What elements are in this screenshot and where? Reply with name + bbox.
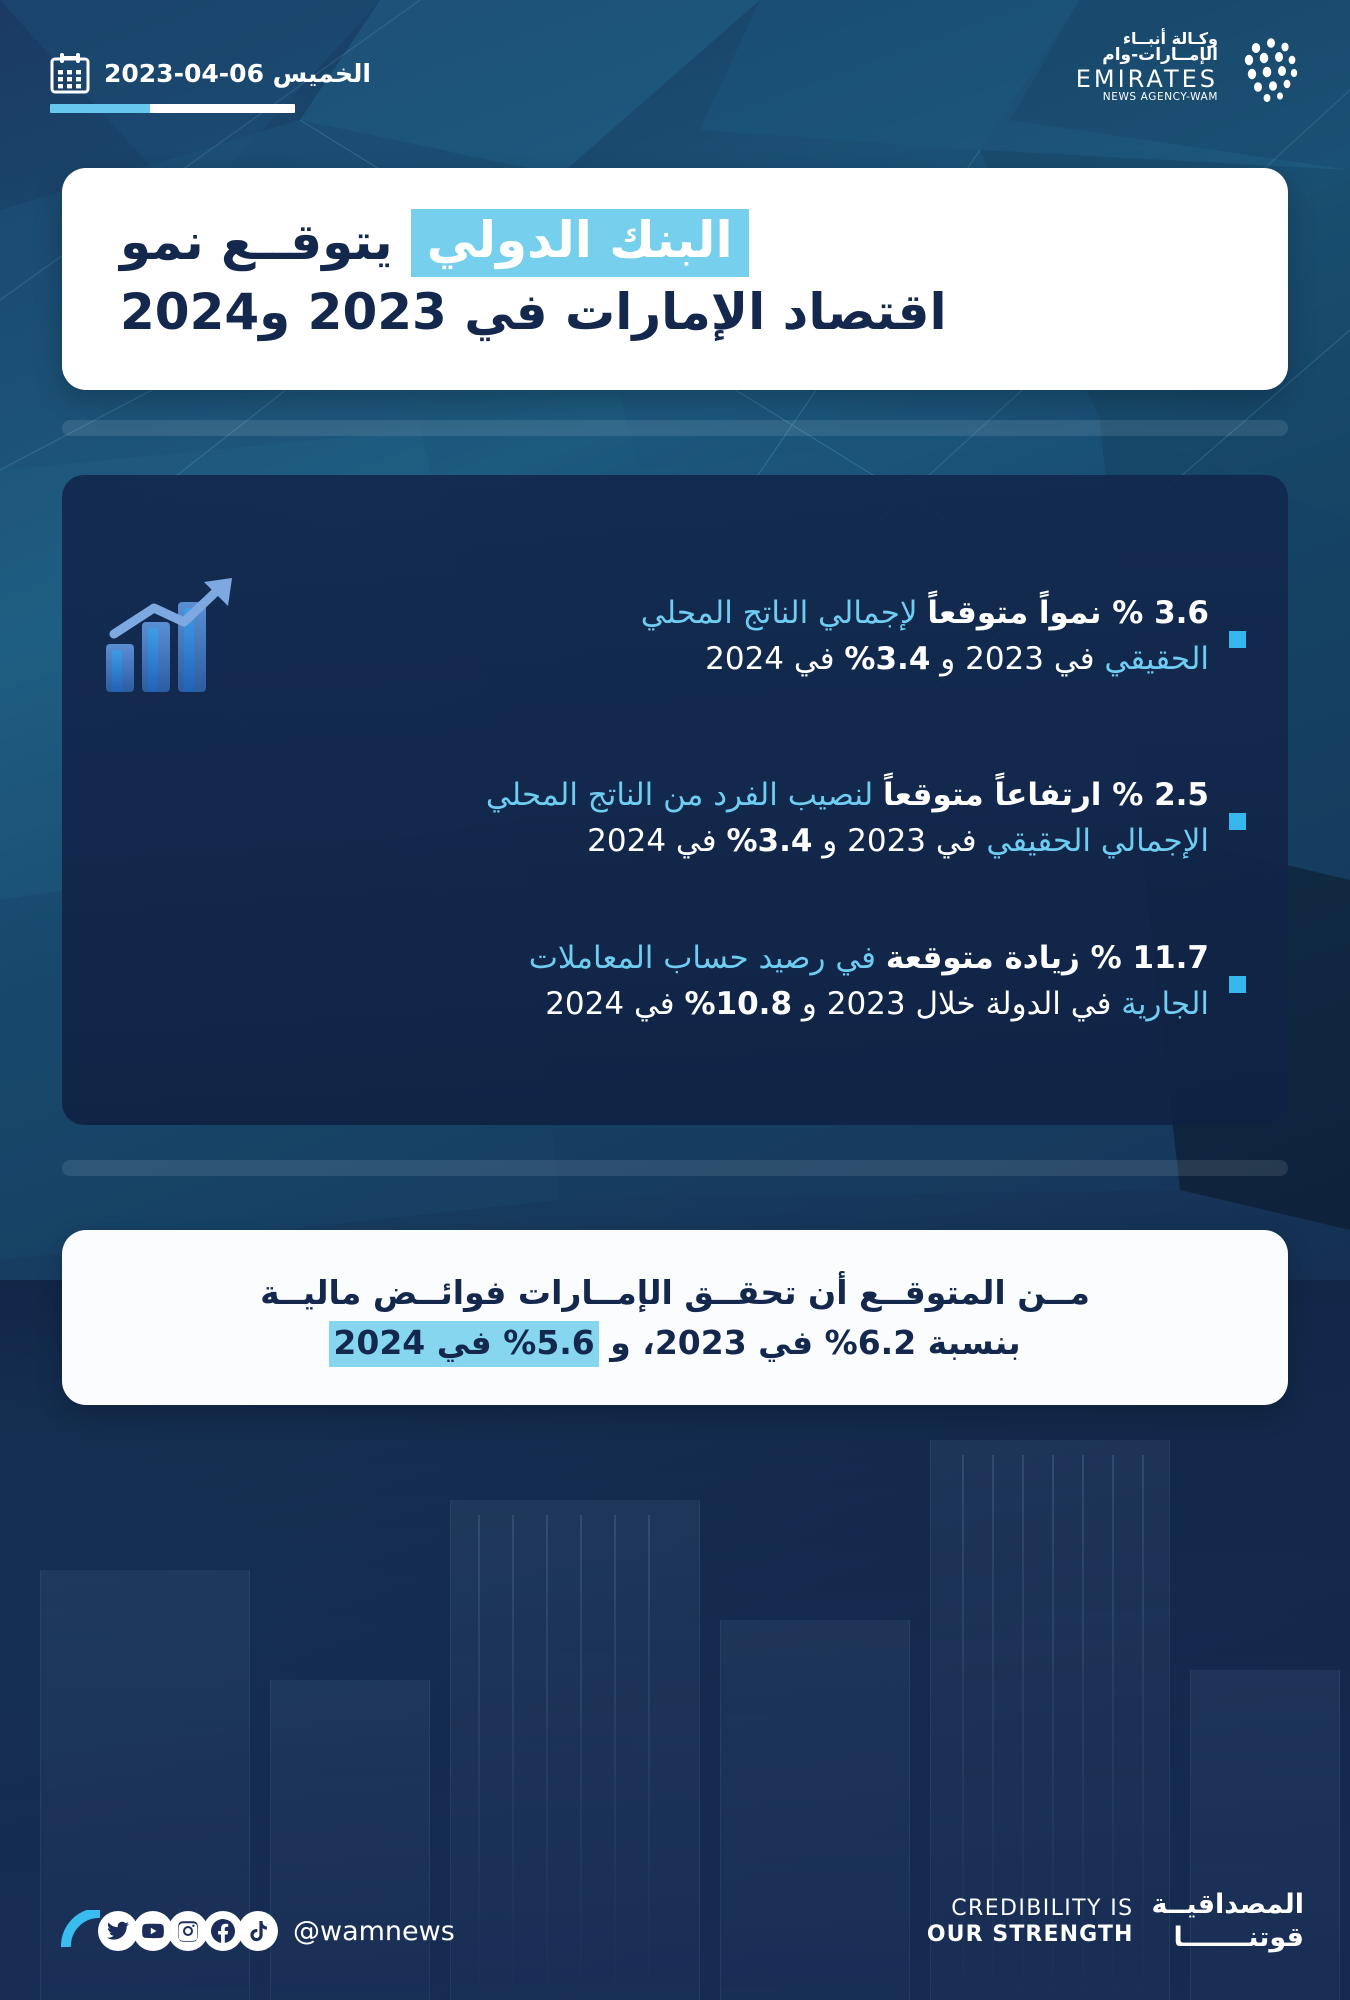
title-line-1-rest: يتوقــع نمو [120,213,393,272]
logo-english-line-1: EMIRATES [1076,67,1218,92]
conclusion-line-2: بنسبة 6.2% في 2023، و 5.6% في 2024 [329,1318,1020,1368]
conclusion-line-2-plain: بنسبة 6.2% في 2023، و [599,1323,1021,1362]
fact-3-line2-c: في 2024 [545,986,684,1022]
fact-1-value-1: 3.6 % [1112,595,1209,631]
tagline-en-line-1: CREDIBILITY IS [951,1896,1133,1922]
title-card: البنك الدولي يتوقــع نمو اقتصاد الإمارات… [62,168,1288,390]
fact-2-label-b: لنصيب الفرد من الناتج المحلي [486,777,883,813]
fact-2-body: 2.5 % ارتفاعاً متوقعاً لنصيب الفرد من ال… [92,773,1209,865]
date-underline [50,104,295,113]
fact-3-label-b: في رصيد حساب المعاملات [529,940,886,976]
twitter-icon[interactable] [98,1911,138,1951]
fact-3-value-1: 11.7 % [1091,940,1209,976]
title-line-1: البنك الدولي يتوقــع نمو [120,209,1230,277]
social-handle: @wamnews [293,1916,455,1947]
fact-3-body: 11.7 % زيادة متوقعة في رصيد حساب المعامل… [92,936,1209,1028]
wam-logo-wordmark: وكـالة أنبــاء الإمــارات-وام EMIRATES N… [1076,31,1218,104]
fact-1-line2-a: الحقيقي [1104,641,1209,677]
tagline-english: CREDIBILITY IS OUR STRENGTH [927,1896,1134,1948]
fact-2-value-2: 3.4% [726,823,812,859]
social-links: @wamnews [60,1910,455,1952]
fact-2-line2-b: في 2023 و [812,823,986,859]
fact-1-label-b: لإجمالي الناتج المحلي [641,595,928,631]
fact-3-value-2: 10.8% [684,986,792,1022]
tagline-ar-line-2: قوتنـــــــا [1173,1922,1304,1954]
tagline-en-line-2: OUR STRENGTH [927,1922,1134,1948]
bullet-square-icon [1229,976,1246,993]
wam-globe-icon [1230,26,1312,108]
fact-1-line-2: الحقيقي في 2023 و 3.4% في 2024 [262,637,1209,683]
fact-1-line2-b: في 2023 و [930,641,1104,677]
fact-1-line2-c: في 2024 [705,641,844,677]
logo-arabic-line-2: الإمــارات-وام [1102,47,1218,65]
tagline-arabic: المصداقيــة قوتنـــــــا [1152,1889,1304,1954]
fact-item-2: 2.5 % ارتفاعاً متوقعاً لنصيب الفرد من ال… [82,773,1268,865]
fact-item-1: 3.6 % نمواً متوقعاً لإجمالي الناتج المحل… [82,572,1268,702]
fact-1-body: 3.6 % نمواً متوقعاً لإجمالي الناتج المحل… [262,591,1209,683]
fact-2-line-2: الإجمالي الحقيقي في 2023 و 3.4% في 2024 [92,819,1209,865]
page-footer: @wamnews CREDIBILITY IS OUR STRENGTH الم… [0,1850,1350,2000]
fact-2-value-1: 2.5 % [1112,777,1209,813]
title-highlight: البنك الدولي [411,209,749,277]
fact-2-label-a: ارتفاعاً متوقعاً [883,777,1112,813]
fact-1-value-2: 3.4% [844,641,930,677]
bullet-square-icon [1229,631,1246,648]
title-line-2: اقتصاد الإمارات في 2023 و2024 [120,283,1230,342]
title-line-2-text: اقتصاد الإمارات في 2023 و2024 [120,283,947,342]
fact-2-line2-a: الإجمالي الحقيقي [986,823,1209,859]
wam-logo: وكـالة أنبــاء الإمــارات-وام EMIRATES N… [1076,26,1312,108]
fact-3-label-a: زيادة متوقعة [886,940,1091,976]
conclusion-line-2-highlight: 5.6% في 2024 [329,1321,598,1367]
date-block: الخميس 06-04-2023 [50,52,371,94]
facebook-icon[interactable] [203,1911,243,1951]
facts-panel: 3.6 % نمواً متوقعاً لإجمالي الناتج المحل… [62,475,1288,1125]
header-date-text: الخميس 06-04-2023 [104,59,371,88]
tagline: CREDIBILITY IS OUR STRENGTH المصداقيــة … [927,1889,1304,1954]
calendar-icon [50,52,90,94]
youtube-icon[interactable] [133,1911,173,1951]
fact-3-line-1: 11.7 % زيادة متوقعة في رصيد حساب المعامل… [92,936,1209,982]
instagram-icon[interactable] [168,1911,208,1951]
fact-3-line-2: الجارية في الدولة خلال 2023 و 10.8% في 2… [92,982,1209,1028]
tiktok-icon[interactable] [238,1911,278,1951]
bullet-square-icon [1229,813,1246,830]
tagline-ar-line-1: المصداقيــة [1152,1889,1304,1921]
growth-bar-chart-icon [92,572,242,702]
wam-swoosh-icon [60,1910,102,1952]
fact-3-line2-a: الجارية [1121,986,1209,1022]
fact-1-line-1: 3.6 % نمواً متوقعاً لإجمالي الناتج المحل… [262,591,1209,637]
divider-top [62,420,1288,436]
conclusion-line-1: مــن المتوقــع أن تحقــق الإمــارات فوائ… [260,1268,1090,1318]
fact-1-label-a: نمواً متوقعاً [927,595,1112,631]
conclusion-card: مــن المتوقــع أن تحقــق الإمــارات فوائ… [62,1230,1288,1405]
fact-2-line-1: 2.5 % ارتفاعاً متوقعاً لنصيب الفرد من ال… [92,773,1209,819]
logo-english-line-2: NEWS AGENCY-WAM [1103,92,1218,103]
divider-bottom [62,1160,1288,1176]
fact-item-3: 11.7 % زيادة متوقعة في رصيد حساب المعامل… [82,936,1268,1028]
infographic-page: الخميس 06-04-2023 وكـالة أنبــاء الإمــا… [0,0,1350,2000]
fact-3-line2-b: في الدولة خلال 2023 و [792,986,1121,1022]
page-header: الخميس 06-04-2023 وكـالة أنبــاء الإمــا… [0,0,1350,150]
fact-2-line2-c: في 2024 [587,823,726,859]
